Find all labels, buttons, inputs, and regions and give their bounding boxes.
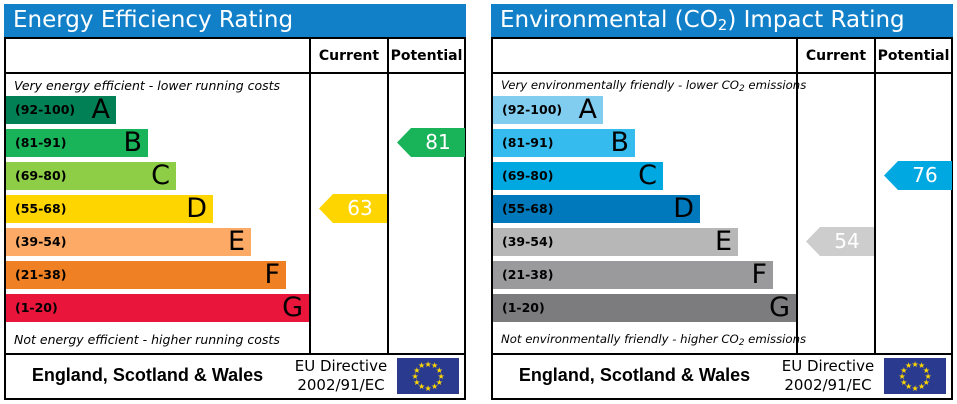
eu-flag-star: ★: [418, 362, 425, 369]
band-range-label: (39-54): [15, 228, 66, 256]
column-header-current: Current: [798, 39, 874, 74]
column-divider-1-body: [796, 74, 798, 355]
band-letter-label: A: [579, 96, 597, 124]
band-range-label: (1-20): [502, 294, 545, 322]
footer-region-label: England, Scotland & Wales: [6, 355, 289, 396]
band-letter-label: A: [92, 96, 110, 124]
footer-region-label: England, Scotland & Wales: [493, 355, 776, 396]
band-range-label: (81-91): [15, 129, 66, 157]
band-letter-label: F: [264, 261, 280, 289]
band-F: (21-38)F: [6, 261, 286, 289]
footer-directive-label: EU Directive 2002/91/EC: [776, 357, 880, 395]
caption-not-friendly: Not environmentally friendly - higher CO…: [501, 332, 806, 346]
directive-line-1: EU Directive: [776, 357, 880, 376]
band-E: (39-54)E: [493, 228, 738, 256]
directive-line-1: EU Directive: [289, 357, 393, 376]
band-letter-label: D: [673, 195, 694, 223]
band-range-label: (1-20): [15, 294, 58, 322]
band-D: (55-68)D: [493, 195, 700, 223]
directive-line-2: 2002/91/EC: [289, 376, 393, 395]
band-range-label: (92-100): [502, 96, 562, 124]
eu-flag-star: ★: [912, 385, 919, 392]
column-header-current: Current: [311, 39, 387, 74]
eu-flag-icon: ★★★★★★★★★★★★: [397, 358, 459, 394]
band-letter-label: E: [228, 228, 245, 256]
eu-flag-star: ★: [431, 383, 438, 390]
table-header-row: Current Potential: [493, 39, 951, 74]
band-G: (1-20)G: [493, 294, 796, 322]
band-range-label: (55-68): [502, 195, 553, 223]
footer-directive-label: EU Directive 2002/91/EC: [289, 357, 393, 395]
column-divider-2-body: [874, 74, 876, 355]
column-divider-1-body: [309, 74, 311, 355]
band-D: (55-68)D: [6, 195, 213, 223]
eu-flag-star: ★: [425, 385, 432, 392]
co2-impact-table: Current Potential Very environmentally f…: [491, 37, 953, 355]
eu-flag-icon: ★★★★★★★★★★★★: [884, 358, 946, 394]
eu-flag-star: ★: [918, 383, 925, 390]
band-range-label: (81-91): [502, 129, 553, 157]
co2-impact-title: Environmental (CO2) Impact Rating: [491, 4, 953, 37]
directive-line-2: 2002/91/EC: [776, 376, 880, 395]
band-letter-label: D: [186, 195, 207, 223]
band-B: (81-91)B: [6, 129, 148, 157]
band-letter-label: F: [751, 261, 767, 289]
band-range-label: (55-68): [15, 195, 66, 223]
band-range-label: (21-38): [15, 261, 66, 289]
band-range-label: (69-80): [15, 162, 66, 190]
energy-efficiency-table: Current Potential Very energy efficient …: [4, 37, 466, 355]
band-C: (69-80)C: [6, 162, 176, 190]
band-B: (81-91)B: [493, 129, 635, 157]
band-E: (39-54)E: [6, 228, 251, 256]
band-C: (69-80)C: [493, 162, 663, 190]
band-letter-label: E: [715, 228, 732, 256]
column-header-potential: Potential: [389, 39, 464, 74]
potential-rating-arrow: 81: [397, 128, 465, 157]
table-body-row: Very energy efficient - lower running co…: [6, 74, 464, 355]
band-letter-label: G: [282, 294, 303, 322]
band-range-label: (69-80): [502, 162, 553, 190]
band-letter-label: G: [769, 294, 790, 322]
current-rating-arrow: 63: [319, 194, 387, 223]
band-letter-label: C: [638, 162, 657, 190]
band-range-label: (21-38): [502, 261, 553, 289]
current-rating-arrow: 54: [806, 227, 874, 256]
band-F: (21-38)F: [493, 261, 773, 289]
energy-efficiency-panel: Energy Efficiency Rating Current Potenti…: [4, 4, 466, 400]
band-G: (1-20)G: [6, 294, 309, 322]
band-letter-label: B: [610, 129, 629, 157]
caption-not-efficient: Not energy efficient - higher running co…: [14, 332, 280, 347]
caption-very-efficient: Very energy efficient - lower running co…: [14, 78, 280, 93]
table-body-row: Very environmentally friendly - lower CO…: [493, 74, 951, 355]
band-range-label: (92-100): [15, 96, 75, 124]
co2-impact-panel: Environmental (CO2) Impact Rating Curren…: [491, 4, 953, 400]
potential-rating-arrow: 76: [884, 161, 952, 190]
band-letter-label: C: [151, 162, 170, 190]
table-header-row: Current Potential: [6, 39, 464, 74]
caption-very-friendly: Very environmentally friendly - lower CO…: [501, 78, 806, 92]
column-header-potential: Potential: [876, 39, 951, 74]
energy-efficiency-title: Energy Efficiency Rating: [4, 4, 466, 37]
epc-charts-page: Energy Efficiency Rating Current Potenti…: [0, 0, 957, 404]
column-divider-2-body: [387, 74, 389, 355]
energy-efficiency-footer: England, Scotland & Wales EU Directive 2…: [4, 355, 466, 400]
band-letter-label: B: [123, 129, 142, 157]
co2-impact-footer: England, Scotland & Wales EU Directive 2…: [491, 355, 953, 400]
band-A: (92-100)A: [493, 96, 603, 124]
eu-flag-star: ★: [905, 362, 912, 369]
energy-band-list: (92-100)A(81-91)B(69-80)C(55-68)D(39-54)…: [6, 96, 309, 330]
band-range-label: (39-54): [502, 228, 553, 256]
co2-band-list: (92-100)A(81-91)B(69-80)C(55-68)D(39-54)…: [493, 96, 796, 330]
band-A: (92-100)A: [6, 96, 116, 124]
